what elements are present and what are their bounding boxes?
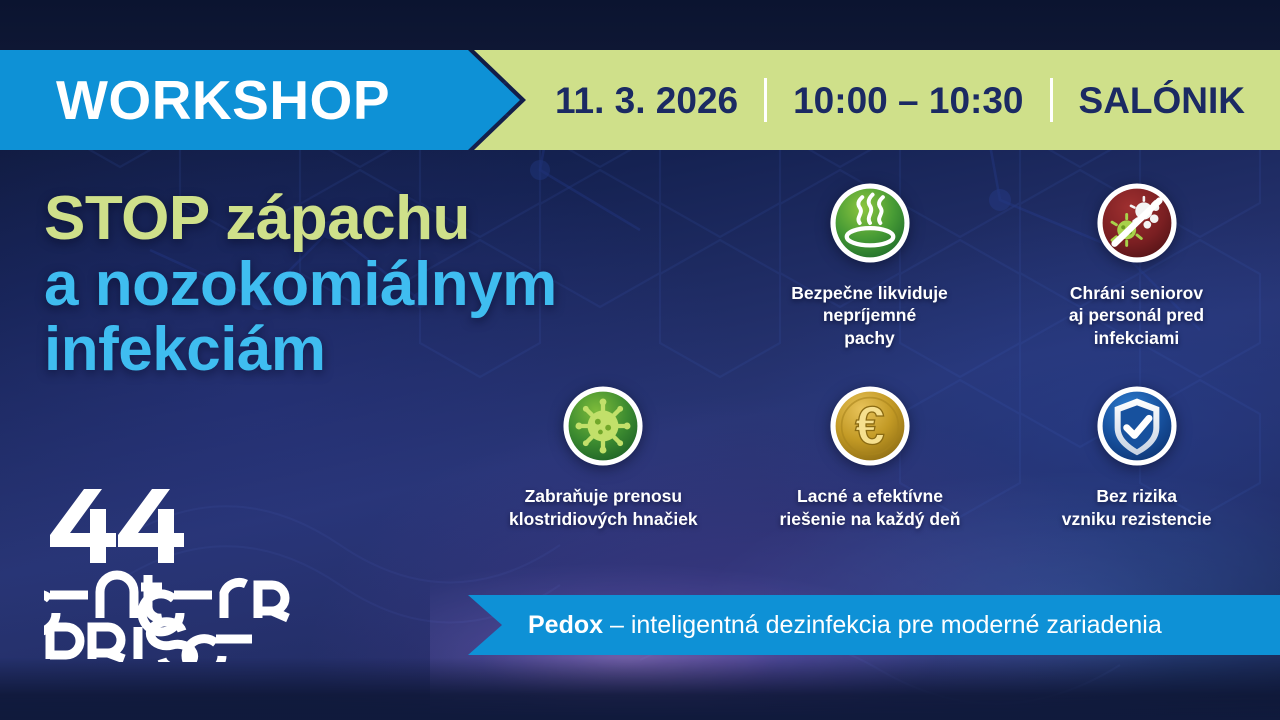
top-vignette xyxy=(0,0,1280,50)
feature-row-bottom: Zabraňuje prenosu klostridiových hnačiek… xyxy=(470,383,1270,530)
feature-caption: Bez rizika vzniku rezistencie xyxy=(1062,485,1212,530)
product-tagline: Pedox – inteligentná dezinfekcia pre mod… xyxy=(528,613,1162,638)
euro-coin-icon: € xyxy=(827,383,913,469)
workshop-label: WORKSHOP xyxy=(56,50,390,150)
company-logo xyxy=(44,487,294,662)
feature-caption: Zabraňuje prenosu klostridiových hnačiek xyxy=(509,485,698,530)
virus-icon xyxy=(560,383,646,469)
feature-protection: Chráni seniorov aj personál pred infekci… xyxy=(1003,180,1270,349)
no-germs-icon xyxy=(1094,180,1180,266)
shield-check-icon xyxy=(1094,383,1180,469)
feature-caption: Chráni seniorov aj personál pred infekci… xyxy=(1069,282,1204,349)
steam-bowl-icon xyxy=(827,180,913,266)
product-tagline-text: – inteligentná dezinfekcia pre moderné z… xyxy=(603,611,1162,639)
feature-row-top: Bezpečne likviduje nepríjemné pachy xyxy=(470,180,1270,349)
header-ribbon: WORKSHOP 11. 3. 2026 10:00 – 10:30 SALÓN… xyxy=(0,50,1280,150)
event-meta: 11. 3. 2026 10:00 – 10:30 SALÓNIK xyxy=(530,50,1270,150)
product-tagline-bar: Pedox – inteligentná dezinfekcia pre mod… xyxy=(468,595,1280,655)
feature-resistance: Bez rizika vzniku rezistencie xyxy=(1003,383,1270,530)
feature-caption: Lacné a efektívne riešenie na každý deň xyxy=(780,485,961,530)
feature-grid: Bezpečne likviduje nepríjemné pachy xyxy=(470,180,1270,530)
svg-text:€: € xyxy=(855,397,885,456)
feature-caption: Bezpečne likviduje nepríjemné pachy xyxy=(791,282,948,349)
event-room: SALÓNIK xyxy=(1053,82,1272,119)
event-time: 10:00 – 10:30 xyxy=(767,82,1049,119)
feature-odour: Bezpečne likviduje nepríjemné pachy xyxy=(736,180,1003,349)
workshop-poster: WORKSHOP 11. 3. 2026 10:00 – 10:30 SALÓN… xyxy=(0,0,1280,720)
product-brand-name: Pedox xyxy=(528,611,603,639)
feature-clostridium: Zabraňuje prenosu klostridiových hnačiek xyxy=(470,383,737,530)
bottom-vignette xyxy=(0,658,1280,720)
feature-cost: € Lacné a efektívne riešenie na každý de… xyxy=(737,383,1004,530)
event-date: 11. 3. 2026 xyxy=(529,82,764,119)
